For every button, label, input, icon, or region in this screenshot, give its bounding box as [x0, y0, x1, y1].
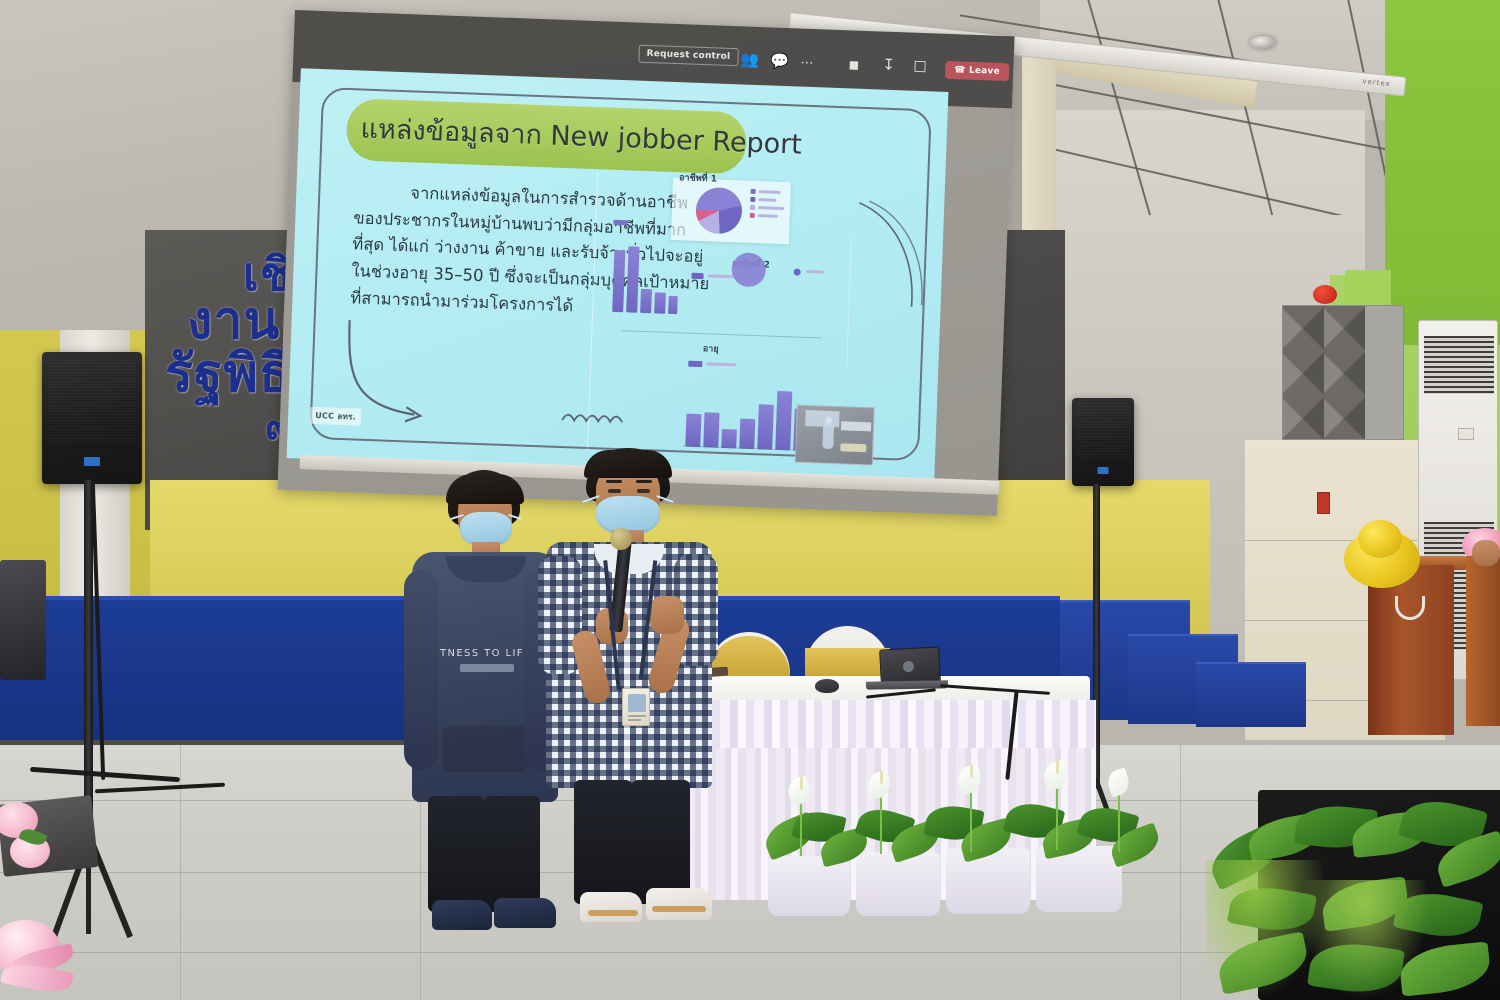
laptop-logo	[903, 661, 914, 672]
loudspeaker-left	[42, 352, 142, 484]
presentation-slide: แหล่งข้อมูลจาก New jobber Report จากแหล่…	[287, 68, 949, 481]
laptop-base	[866, 680, 948, 689]
planter-pot	[768, 856, 850, 916]
legend-label	[759, 190, 781, 194]
hangup-icon: ☎	[954, 65, 966, 75]
bar	[775, 391, 792, 451]
camera-icon[interactable]: ◾	[848, 57, 860, 72]
chart-label-age: อายุ	[703, 341, 719, 356]
bar	[757, 404, 774, 450]
eyebrow-right	[636, 480, 652, 483]
microphone-icon[interactable]: ↧	[882, 58, 895, 73]
planter-row	[760, 760, 1160, 920]
lily-spadix	[800, 776, 803, 790]
shoe-left	[432, 900, 492, 930]
leave-button[interactable]: ☎ Leave	[945, 61, 1009, 81]
stage-step-low	[1196, 662, 1306, 727]
legend-label	[806, 270, 824, 274]
ac-control-panel	[1458, 428, 1474, 440]
legend-swatch	[691, 273, 703, 279]
trouser-leg-right	[484, 796, 540, 912]
head-table-valance	[686, 700, 1096, 748]
computer-mouse	[815, 679, 839, 693]
bar-chart-occupation-1	[610, 230, 681, 314]
presentation-photo-scene: เชิ งานฉ รัฐพิธี ๙ มกราคม ๒๕ vertex ⎆ ••…	[0, 0, 1500, 1000]
arm-left	[404, 570, 438, 770]
bar	[668, 296, 678, 314]
partial-person-hand	[1472, 540, 1500, 566]
legend-swatch	[751, 189, 756, 194]
bar	[739, 419, 755, 450]
id-badge	[622, 688, 650, 726]
hair-fringe	[584, 450, 672, 478]
lily-spadix	[880, 770, 883, 784]
podium	[1368, 565, 1454, 735]
floor-tile-seam	[180, 745, 181, 1000]
decorative-corner-arcs	[847, 199, 931, 312]
bar	[640, 289, 652, 313]
ac-upper-vent	[1424, 336, 1494, 394]
ucc-watermark: UCC ลทร.	[310, 407, 362, 426]
trouser-leg-right	[632, 780, 690, 904]
lily-flower	[866, 770, 892, 799]
bar	[721, 429, 737, 449]
request-control-button[interactable]: Request control	[638, 45, 738, 67]
legend-label	[758, 214, 778, 218]
lily-spadix	[1056, 760, 1059, 774]
jbl-logo	[1098, 467, 1109, 474]
loudspeaker-right	[1072, 398, 1134, 486]
legend-swatch	[688, 361, 702, 368]
shoe-sole-stripe	[588, 910, 638, 916]
podium-flower-cluster	[1358, 520, 1402, 558]
fern-frond	[1300, 880, 1430, 1000]
eye-right	[637, 489, 650, 493]
audio-equipment	[0, 560, 46, 680]
pie-legend	[750, 189, 785, 219]
green-wall-panel	[1385, 0, 1500, 345]
shoe-left	[580, 892, 642, 922]
legend-swatch	[750, 205, 755, 210]
jbl-logo	[84, 457, 100, 466]
legend-swatch	[750, 213, 755, 218]
chart-label-occupation-1: อาชีพที่ 1	[679, 170, 717, 185]
person-right	[538, 440, 718, 930]
bar	[612, 250, 625, 312]
badge-line	[628, 715, 646, 717]
hoodie-graphic-bar	[460, 664, 514, 672]
shoe-sole-stripe	[652, 906, 706, 912]
legend-swatch	[750, 197, 755, 202]
eye-left	[608, 489, 621, 493]
leave-label: Leave	[969, 66, 1000, 77]
hoodie-graphic-text: WITNESS TO LIFE	[424, 648, 531, 659]
wall-seam	[1245, 540, 1445, 541]
acoustic-diamond-panel	[1282, 305, 1404, 440]
floor-tile-seam	[1180, 745, 1181, 1000]
microphone-head	[610, 528, 632, 550]
person-left: WITNESS TO LIFE	[398, 460, 558, 950]
trouser-leg-left	[428, 796, 484, 912]
slide-body-line-5: ที่สามารถนำมาร่วมโครงการได้	[350, 288, 573, 315]
hair-fringe	[446, 474, 524, 504]
ellipsis-icon[interactable]: ⋯	[800, 57, 814, 71]
podium-secondary	[1466, 556, 1500, 726]
hand-right	[650, 596, 684, 634]
speaker-stand-pole-left	[84, 480, 93, 840]
badge-line	[628, 719, 641, 721]
people-icon[interactable]: 👥	[740, 52, 759, 68]
lily-spadix	[970, 764, 973, 778]
eyebrow-left	[606, 480, 622, 483]
legend-label	[758, 198, 776, 202]
chat-icon[interactable]: 💬	[770, 53, 789, 69]
lily-flower	[785, 775, 813, 806]
legend-swatch	[613, 220, 627, 226]
bar	[626, 246, 639, 312]
screen-brand-label: vertex	[1362, 77, 1391, 88]
lily-flower	[1105, 767, 1133, 797]
participant-video-thumbnail[interactable]	[795, 405, 875, 466]
badge-photo	[628, 694, 646, 712]
foreground-flowers-left	[0, 790, 110, 1000]
planter-pot	[946, 848, 1030, 914]
legend-label	[758, 206, 784, 210]
bar	[654, 292, 666, 313]
fire-alarm-beacon-icon	[1313, 285, 1337, 304]
hoodie-pocket	[442, 726, 528, 772]
decorative-squiggle	[560, 408, 631, 429]
share-screen-icon[interactable]: ☐	[913, 60, 927, 75]
fire-alarm-pull-station-icon	[1317, 492, 1330, 514]
shoe-right	[646, 888, 712, 920]
recessed-ceiling-light	[1250, 36, 1276, 49]
trouser-leg-left	[574, 780, 632, 904]
